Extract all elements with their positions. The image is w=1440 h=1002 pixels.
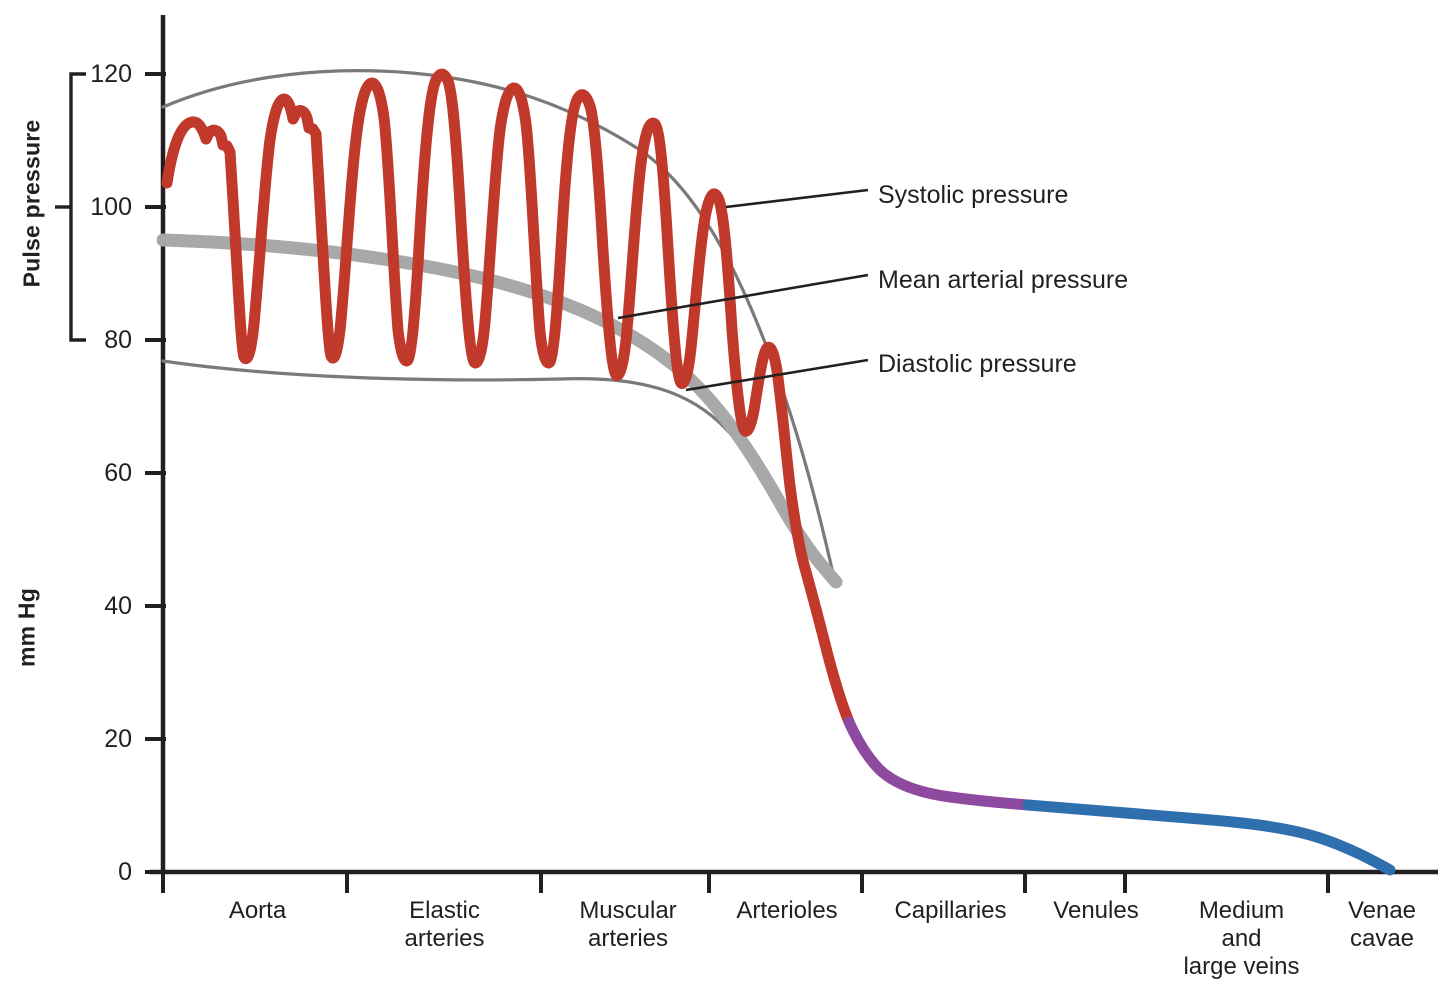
- figure-root: Pulse pressure mm Hg 0 20 40 60 80 100 1…: [0, 0, 1440, 1002]
- pulse-pressure-bracket: [55, 74, 86, 340]
- x-tick-marks: [163, 872, 1328, 893]
- leader-line-systolic: [726, 190, 868, 207]
- capillary-pressure-curve: [849, 722, 1028, 805]
- pressure-plot: [0, 0, 1440, 1002]
- pulse-pressure-waveform: [167, 74, 849, 722]
- axis-lines: [150, 15, 1438, 874]
- leader-line-map: [618, 275, 868, 318]
- venous-pressure-curve: [1028, 805, 1390, 870]
